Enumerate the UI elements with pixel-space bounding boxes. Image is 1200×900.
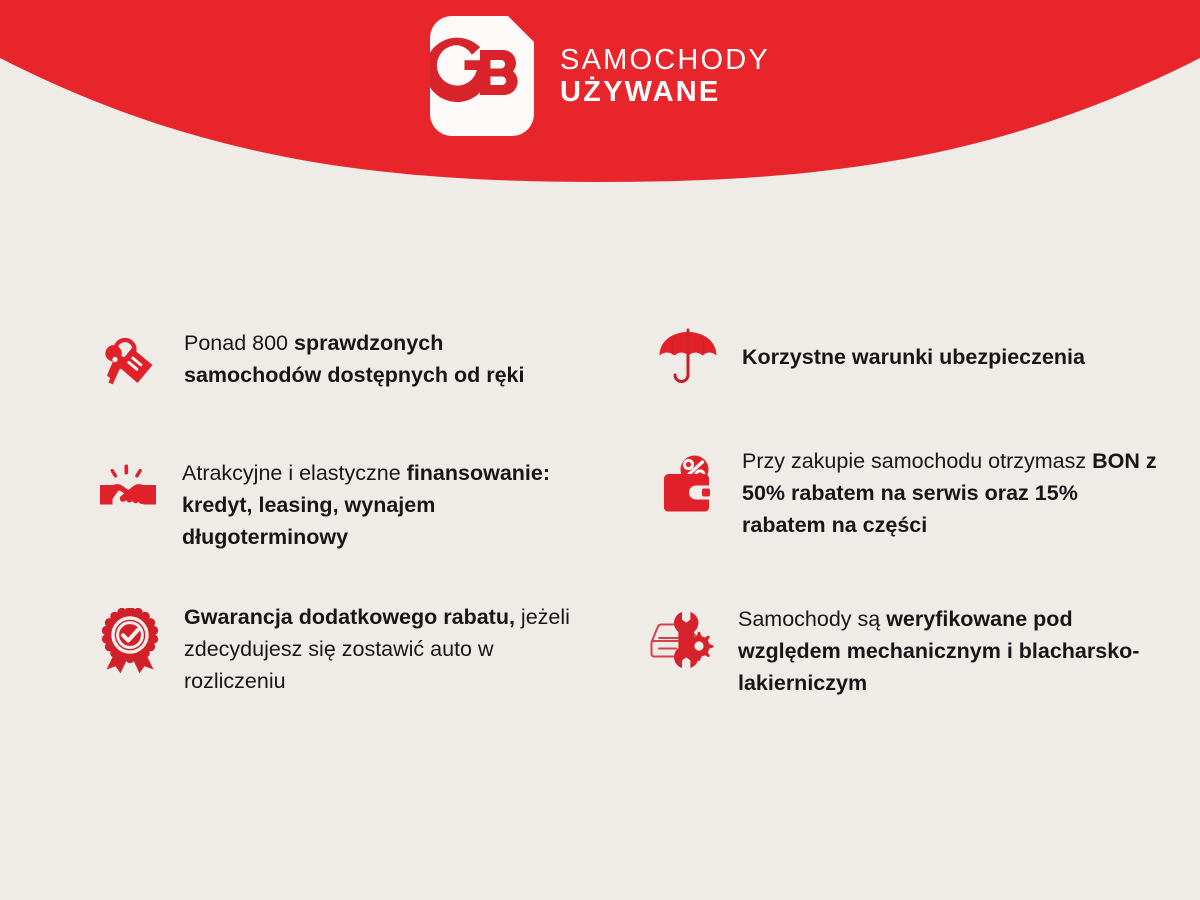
feature-item-cars-available: Ponad 800 sprawdzonych samochodów dostęp… bbox=[88, 326, 648, 456]
feature-item-financing: Atrakcyjne i elastyczne finansowanie: kr… bbox=[88, 456, 648, 600]
brand-line-2: UŻYWANE bbox=[560, 75, 770, 109]
feature-text: Samochody są weryfikowane pod względem m… bbox=[738, 602, 1158, 699]
brand-line-1: SAMOCHODY bbox=[560, 45, 770, 76]
feature-text: Ponad 800 sprawdzonych samochodów dostęp… bbox=[184, 326, 584, 392]
features-column-right: Korzystne warunki ubezpieczenia bbox=[648, 326, 1200, 699]
page-header: SAMOCHODY UŻYWANE bbox=[0, 0, 1200, 200]
features-grid: Ponad 800 sprawdzonych samochodów dostęp… bbox=[0, 326, 1200, 699]
brand-lockup: SAMOCHODY UŻYWANE bbox=[0, 0, 1200, 152]
feature-text: Gwarancja dodatkowego rabatu, jeżeli zde… bbox=[184, 600, 584, 697]
feature-text-part: Ponad 800 bbox=[184, 331, 294, 355]
car-wrench-gear-icon bbox=[648, 602, 720, 680]
features-column-left: Ponad 800 sprawdzonych samochodów dostęp… bbox=[88, 326, 648, 699]
car-keys-icon bbox=[94, 326, 166, 404]
brand-wordmark: SAMOCHODY UŻYWANE bbox=[560, 45, 770, 110]
feature-text-part: Przy zakupie samochodu otrzymasz bbox=[742, 449, 1092, 473]
feature-text-part-bold: Korzystne warunki ubezpieczenia bbox=[742, 345, 1085, 369]
feature-text-part: Samochody są bbox=[738, 607, 886, 631]
gb-logo-icon bbox=[430, 16, 534, 136]
feature-text: Przy zakupie samochodu otrzymasz BON z 5… bbox=[742, 444, 1162, 541]
umbrella-icon bbox=[652, 326, 724, 400]
feature-text: Atrakcyjne i elastyczne finansowanie: kr… bbox=[182, 456, 582, 553]
feature-text: Korzystne warunki ubezpieczenia bbox=[742, 326, 1162, 374]
award-rosette-icon bbox=[94, 600, 166, 680]
feature-text-part: Atrakcyjne i elastyczne bbox=[182, 461, 407, 485]
feature-item-insurance: Korzystne warunki ubezpieczenia bbox=[648, 326, 1200, 444]
feature-item-inspection: Samochody są weryfikowane pod względem m… bbox=[648, 602, 1200, 699]
feature-text-part-bold: Gwarancja dodatkowego rabatu, bbox=[184, 605, 515, 629]
wallet-percent-icon bbox=[652, 444, 724, 524]
feature-item-trade-in-guarantee: Gwarancja dodatkowego rabatu, jeżeli zde… bbox=[88, 600, 648, 697]
feature-item-discount-voucher: Przy zakupie samochodu otrzymasz BON z 5… bbox=[648, 444, 1200, 602]
handshake-icon bbox=[92, 456, 164, 534]
